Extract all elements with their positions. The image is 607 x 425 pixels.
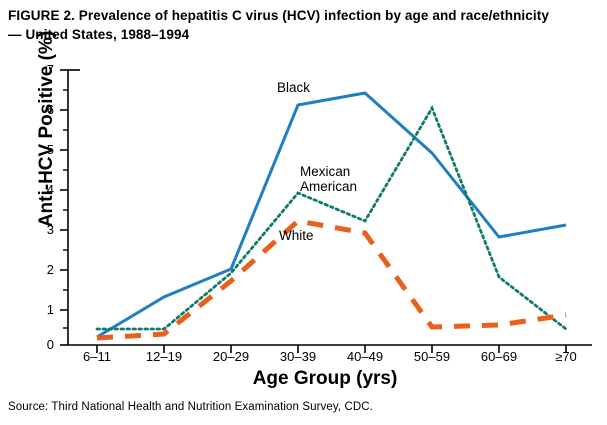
x-tick-label: 6–11 xyxy=(60,349,134,364)
x-tick-label: 20–29 xyxy=(194,349,268,364)
x-tick-label: 50–59 xyxy=(395,349,469,364)
x-tick-label: 12–19 xyxy=(127,349,201,364)
y-tick-label: 1 xyxy=(32,302,54,317)
series-label-mexican-american: Mexican American xyxy=(300,164,357,194)
y-axis-title: Anti-HCV Positive (%) xyxy=(36,14,58,244)
series-label-white: White xyxy=(279,228,314,243)
series-line-black xyxy=(97,93,566,337)
figure-source: Source: Third National Health and Nutrit… xyxy=(8,401,373,413)
x-tick-label: ≥70 xyxy=(529,349,603,364)
x-tick-label: 60–69 xyxy=(462,349,536,364)
x-tick-label: 40–49 xyxy=(328,349,402,364)
x-axis-title: Age Group (yrs) xyxy=(60,368,590,390)
series-line-white xyxy=(97,221,566,338)
y-tick-label: 2 xyxy=(32,262,54,277)
x-tick-label: 30–39 xyxy=(261,349,335,364)
figure-root: FIGURE 2. Prevalence of hepatitis C viru… xyxy=(0,0,607,425)
series-label-black: Black xyxy=(277,80,310,95)
y-axis-major-ticks xyxy=(60,70,68,345)
y-tick-label: 0 xyxy=(32,337,54,352)
